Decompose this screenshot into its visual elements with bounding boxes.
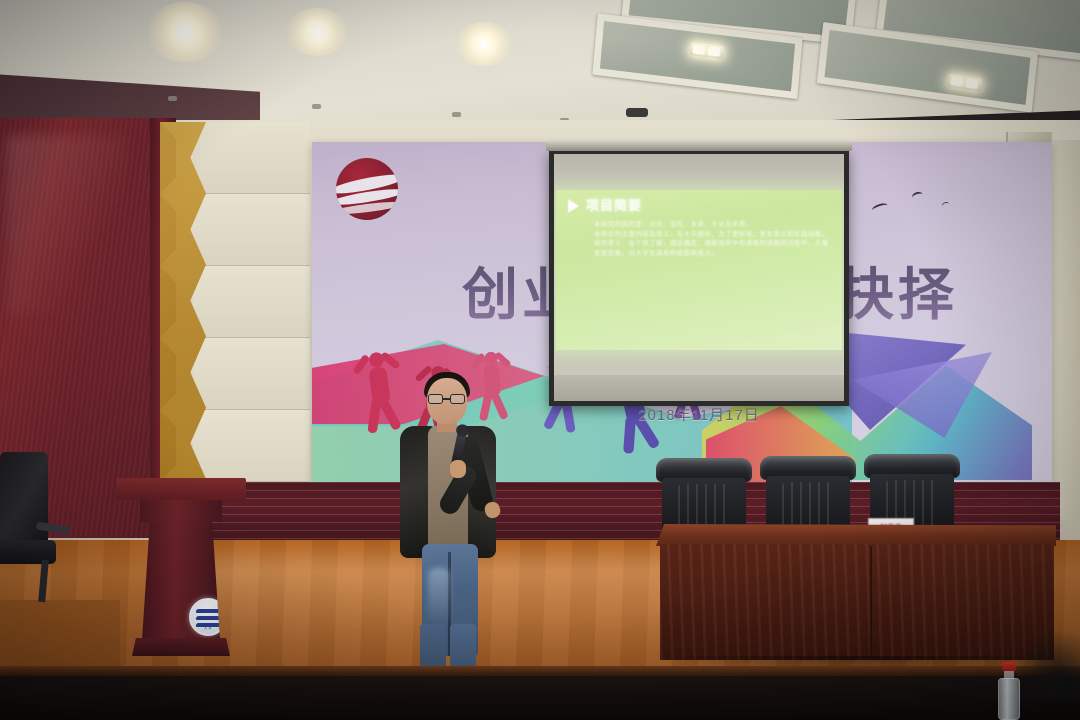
ceiling-fixture xyxy=(168,96,177,101)
lectern-neck xyxy=(140,500,222,522)
table-top xyxy=(656,524,1056,546)
bird-icon xyxy=(941,201,951,211)
table-seam xyxy=(870,546,872,658)
lecture-hall-photo: 创业······上的抉择 xyxy=(0,0,1080,720)
presenter xyxy=(388,372,508,692)
screen-surface: 项目简要 本研究的目的是：过去、现在、未来，平台及本质。 本研究的主要内容及意义… xyxy=(554,154,844,401)
screen-roller-casing xyxy=(546,140,852,151)
ceiling-spotlight xyxy=(286,8,348,56)
ceiling-fixture xyxy=(312,104,321,109)
bird-silhouettes xyxy=(872,186,1012,226)
lectern: 大学 xyxy=(116,478,246,668)
slide-title: 项目简要 xyxy=(586,195,642,214)
lectern-top xyxy=(116,478,246,500)
table-front-panel xyxy=(660,544,1054,660)
presentation-slide: 项目简要 本研究的目的是：过去、现在、未来，平台及本质。 本研究的主要内容及意义… xyxy=(556,190,842,350)
bottle-cap xyxy=(1002,662,1016,671)
bird-icon xyxy=(871,202,889,215)
slide-line: 研究意义：在个现了解，理论确定，理解现状中有清晰的课题的过程中，大量生产环节 xyxy=(594,239,828,249)
chair-backrest xyxy=(0,452,48,548)
slide-line: 本研究的主要内容及意义：在大学期间，为了更好地、更有意义的实践指数。 xyxy=(594,230,828,240)
head-table xyxy=(656,524,1056,674)
chair-leg xyxy=(38,560,49,602)
slide-body: 本研究的目的是：过去、现在、未来，平台及本质。 本研究的主要内容及意义：在大学期… xyxy=(594,220,828,258)
triangle-bullet-icon xyxy=(568,199,579,213)
banner-date-caption: 2018年11月17日 xyxy=(549,404,849,425)
glasses-icon xyxy=(428,394,466,404)
university-emblem-icon: 大学 xyxy=(189,598,227,636)
emblem-text: 大学 xyxy=(191,625,225,631)
wall-highlight xyxy=(6,135,126,315)
ceiling-fixture xyxy=(452,112,461,117)
organization-logo-icon xyxy=(336,158,398,220)
screen-bottom-bar xyxy=(554,375,844,401)
ceiling-spotlight xyxy=(455,22,513,66)
lectern-body: 大学 xyxy=(142,522,220,640)
slide-line: 发展现象，对大学生具有积极影响意义。 xyxy=(594,249,828,259)
water-bottle xyxy=(996,662,1022,720)
slide-line: 本研究的目的是：过去、现在、未来，平台及本质。 xyxy=(594,220,828,230)
smoke-detector xyxy=(626,108,648,117)
ceiling-spotlight xyxy=(146,2,224,62)
foreground-rail-top xyxy=(0,666,1080,676)
jeans-highlight xyxy=(428,568,450,626)
hand-holding-mic xyxy=(450,460,466,478)
foreground-rail xyxy=(0,676,1080,720)
projection-screen: 项目简要 本研究的目的是：过去、现在、未来，平台及本质。 本研究的主要内容及意义… xyxy=(549,150,849,406)
bottle-neck xyxy=(1004,670,1014,679)
lectern-base xyxy=(132,638,230,656)
side-chair xyxy=(0,452,66,602)
bottle-body xyxy=(998,678,1020,720)
bird-icon xyxy=(911,190,924,201)
